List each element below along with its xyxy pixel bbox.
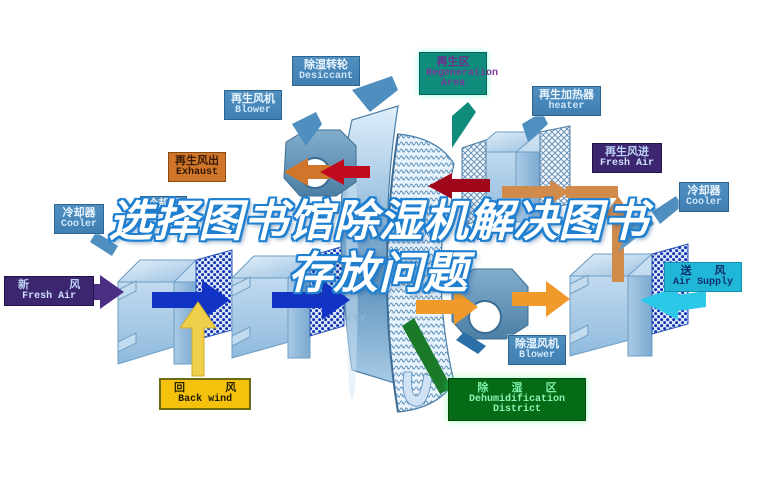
label-regen-exhaust[interactable]: 再生风出 Exhaust [168,152,226,182]
label-regen-fresh-air-en: Fresh Air [600,159,654,170]
regen-blower-body [284,130,356,196]
label-regen-fresh-air[interactable]: 再生风进 Fresh Air [592,143,662,173]
label-back-wind-en: Back wind [168,395,242,406]
label-regen-exhaust-en: Exhaust [175,168,219,179]
label-dehumid-blower-cn: 除湿风机 [515,339,559,351]
label-regen-exhaust-cn: 再生风出 [175,156,219,168]
label-desiccant-wheel[interactable]: 除湿转轮 Desiccant [292,56,360,86]
overlay-title-line2: 存放问题 [0,248,757,300]
overlay-title: 选择图书馆除湿机解决图书 存放问题 [0,196,757,300]
label-regeneration-area-en: Regeneration Area [426,69,480,90]
label-regen-heater-en: heater [539,102,594,113]
diagram-canvas: XTX [0,0,757,488]
label-desiccant-wheel-cn: 除湿转轮 [299,60,353,72]
svg-text:XTX: XTX [345,313,367,325]
label-regen-heater-cn: 再生加热器 [539,90,594,102]
label-regen-blower-cn: 再生风机 [231,94,275,106]
label-regen-blower[interactable]: 再生风机 Blower [224,90,282,120]
label-back-wind[interactable]: 回 风 Back wind [159,378,251,410]
label-desiccant-wheel-en: Desiccant [299,72,353,83]
label-regeneration-area-cn: 再生区 [426,57,480,69]
label-regen-fresh-air-cn: 再生风进 [600,147,654,159]
label-back-wind-cn: 回 风 [168,383,242,395]
label-dehumid-district-en: Dehumidification District [457,395,577,416]
overlay-title-line1: 选择图书馆除湿机解决图书 [109,197,649,246]
label-dehumid-blower[interactable]: 除湿风机 Blower [508,335,566,365]
label-regen-blower-en: Blower [231,106,275,117]
label-dehumid-district[interactable]: 除 湿 区 Dehumidification District [448,378,586,421]
label-regen-heater[interactable]: 再生加热器 heater [532,86,601,116]
label-regeneration-area[interactable]: 再生区 Regeneration Area [419,52,487,95]
label-dehumid-blower-en: Blower [515,351,559,362]
label-dehumid-district-cn: 除 湿 区 [457,383,577,395]
